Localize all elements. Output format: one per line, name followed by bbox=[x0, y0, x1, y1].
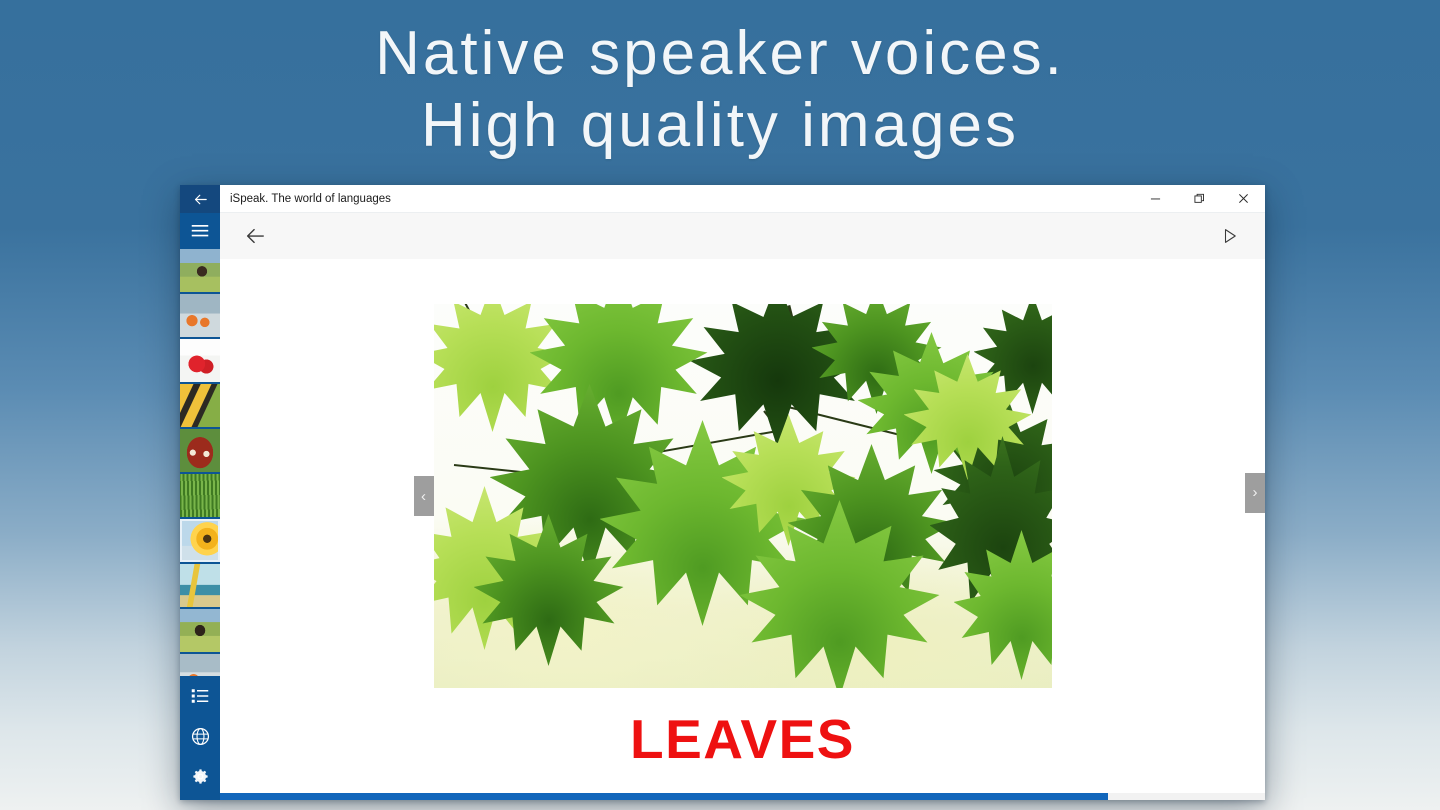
close-icon bbox=[1238, 193, 1249, 204]
list-item[interactable] bbox=[180, 429, 220, 474]
list-item[interactable] bbox=[180, 384, 220, 429]
list-item-selected[interactable] bbox=[180, 519, 220, 564]
toolbar-play-button[interactable] bbox=[1213, 219, 1247, 253]
sidebar-back-button[interactable] bbox=[180, 185, 220, 213]
leaf-shape bbox=[474, 514, 624, 666]
gear-icon bbox=[191, 767, 210, 786]
hamburger-menu-icon bbox=[191, 224, 209, 238]
app-toolbar bbox=[220, 213, 1265, 259]
sidebar-menu-button[interactable] bbox=[180, 213, 220, 249]
card-word: LEAVES bbox=[630, 712, 855, 767]
app-window: iSpeak. The world of languages bbox=[180, 185, 1265, 800]
list-item[interactable] bbox=[180, 339, 220, 384]
window-body: iSpeak. The world of languages bbox=[220, 185, 1265, 800]
sidebar-item-list[interactable] bbox=[180, 676, 220, 716]
card-image bbox=[434, 304, 1052, 688]
leaf-shape bbox=[740, 500, 940, 688]
sidebar-bottom-actions bbox=[180, 676, 220, 800]
window-titlebar: iSpeak. The world of languages bbox=[220, 185, 1265, 213]
sidebar-rail bbox=[180, 185, 220, 800]
list-item[interactable] bbox=[180, 654, 220, 676]
list-icon bbox=[191, 688, 209, 704]
minimize-icon bbox=[1150, 193, 1161, 204]
list-item[interactable] bbox=[180, 609, 220, 654]
globe-icon bbox=[191, 727, 210, 746]
next-card-button[interactable]: › bbox=[1245, 473, 1265, 513]
prev-card-button[interactable]: ‹ bbox=[414, 476, 434, 516]
sidebar-thumbnail-list[interactable] bbox=[180, 249, 220, 676]
sidebar-item-settings[interactable] bbox=[180, 756, 220, 796]
card-content: ‹ bbox=[220, 259, 1265, 800]
restore-icon bbox=[1194, 193, 1205, 204]
promo-headline: Native speaker voices. High quality imag… bbox=[0, 18, 1440, 162]
photo-wrapper: ‹ bbox=[434, 304, 1052, 688]
play-icon bbox=[1221, 227, 1239, 245]
leaf-shape bbox=[954, 530, 1052, 680]
restore-button[interactable] bbox=[1177, 185, 1221, 213]
close-button[interactable] bbox=[1221, 185, 1265, 213]
minimize-button[interactable] bbox=[1133, 185, 1177, 213]
scrollbar-thumb[interactable] bbox=[220, 793, 1108, 800]
back-arrow-icon bbox=[244, 225, 266, 247]
window-title: iSpeak. The world of languages bbox=[220, 193, 1133, 205]
sidebar-item-language[interactable] bbox=[180, 716, 220, 756]
back-arrow-icon bbox=[192, 191, 209, 208]
list-item[interactable] bbox=[180, 474, 220, 519]
list-item[interactable] bbox=[180, 294, 220, 339]
toolbar-back-button[interactable] bbox=[238, 219, 272, 253]
list-item[interactable] bbox=[180, 564, 220, 609]
horizontal-scrollbar[interactable] bbox=[220, 793, 1265, 800]
list-item[interactable] bbox=[180, 249, 220, 294]
